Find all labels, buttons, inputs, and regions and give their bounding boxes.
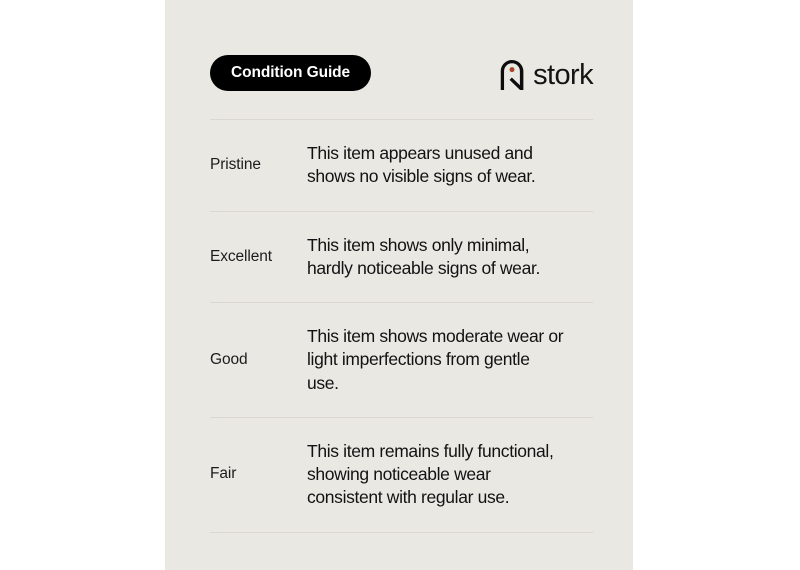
description-line: This item remains fully functional, <box>307 440 589 463</box>
condition-description: This item shows only minimal, hardly not… <box>307 234 589 281</box>
condition-label: Good <box>210 351 307 370</box>
condition-description: This item shows moderate wear or light i… <box>307 325 589 395</box>
condition-description: This item appears unused and shows no vi… <box>307 142 589 189</box>
description-line: This item shows moderate wear or <box>307 325 589 348</box>
card-header: Condition Guide stork <box>210 55 593 95</box>
row-divider <box>210 532 593 533</box>
condition-label: Excellent <box>210 248 307 267</box>
condition-label: Fair <box>210 465 307 484</box>
table-row: Excellent This item shows only minimal, … <box>210 212 593 303</box>
table-row: Good This item shows moderate wear or li… <box>210 303 593 417</box>
description-line: shows no visible signs of wear. <box>307 165 589 188</box>
table-row: Fair This item remains fully functional,… <box>210 418 593 532</box>
brand-lockup: stork <box>499 57 593 91</box>
description-line: showing noticeable wear <box>307 463 589 486</box>
description-line: light imperfections from gentle <box>307 348 589 371</box>
description-line: hardly noticeable signs of wear. <box>307 257 589 280</box>
page-canvas: Condition Guide stork Pristine This item… <box>0 0 800 570</box>
condition-table: Pristine This item appears unused and sh… <box>210 119 593 533</box>
condition-guide-badge: Condition Guide <box>210 55 371 91</box>
description-line: consistent with regular use. <box>307 486 589 509</box>
brand-wordmark: stork <box>533 61 593 90</box>
table-row: Pristine This item appears unused and sh… <box>210 120 593 211</box>
description-line: This item appears unused and <box>307 142 589 165</box>
stork-arch-icon <box>499 58 525 90</box>
description-line: This item shows only minimal, <box>307 234 589 257</box>
condition-label: Pristine <box>210 156 307 175</box>
condition-guide-card: Condition Guide stork Pristine This item… <box>165 0 633 570</box>
condition-description: This item remains fully functional, show… <box>307 440 589 510</box>
description-line: use. <box>307 372 589 395</box>
